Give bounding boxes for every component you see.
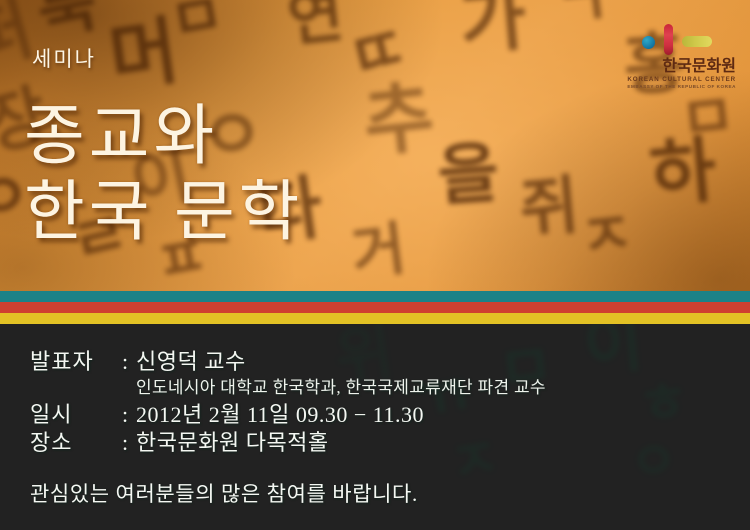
event-detail-colon: : — [122, 429, 136, 457]
calligraphy-glyph: ㅈ — [577, 203, 636, 266]
event-detail-row: 장소:한국문화원 다목적홀 — [30, 429, 546, 457]
event-detail-value: 신영덕 교수 — [136, 348, 246, 376]
calligraphy-glyph: 이 — [581, 324, 645, 380]
logo-yellow-dash-icon — [682, 36, 712, 47]
calligraphy-glyph: 을 — [436, 140, 501, 210]
closing-message: 관심있는 여러분들의 많은 참여를 바랍니다. — [30, 478, 418, 508]
event-detail-value: 2012년 2월 11일 09.30 − 11.30 — [136, 401, 424, 429]
calligraphy-glyph: ㅇ — [627, 434, 680, 491]
logo-red-bar-icon — [664, 24, 673, 55]
event-poster: 퍼북머ㅁ연ㄸ가ㄱ홍ㅁ장ㅇ이추을하ㅇ다ㄹ쥐ㅈㅍ거 세미나 종교와 한국 문학 한국… — [0, 0, 750, 530]
event-detail-row: 일시:2012년 2월 11일 09.30 − 11.30 — [30, 401, 546, 429]
event-detail-label: 장소 — [30, 429, 122, 457]
calligraphy-glyph: ㅁ — [165, 0, 228, 50]
logo-blue-dot-icon — [642, 36, 655, 49]
calligraphy-glyph: ㄱ — [553, 0, 613, 39]
calligraphy-glyph: ㅎ — [635, 373, 693, 435]
event-detail-label: 일시 — [30, 401, 122, 429]
event-details-block: 발표자:신영덕 교수인도네시아 대학교 한국학과, 한국국제교류재단 파견 교수… — [30, 348, 546, 457]
event-detail-colon: : — [122, 348, 136, 376]
calligraphy-glyph: 연 — [285, 0, 346, 51]
logo-name-korean: 한국문화원 — [626, 58, 736, 75]
logo-mark-icon — [642, 24, 728, 56]
logo-subtitle-english: EMBASSY OF THE REPUBLIC OF KOREA — [626, 84, 736, 89]
divider-stripe-red — [0, 302, 750, 313]
calligraphy-glyph: 가 — [457, 0, 529, 59]
divider-stripe-teal — [0, 291, 750, 302]
divider-stripe-yellow — [0, 313, 750, 324]
event-detail-label: 발표자 — [30, 348, 122, 376]
calligraphy-glyph: 하 — [647, 133, 719, 211]
calligraphy-glyph: 북 — [32, 0, 103, 45]
logo-name-english: KOREAN CULTURAL CENTER — [626, 76, 736, 83]
event-detail-row: 발표자:신영덕 교수 — [30, 348, 546, 376]
korean-cultural-center-logo: 한국문화원 KOREAN CULTURAL CENTER EMBASSY OF … — [626, 24, 736, 89]
event-detail-colon: : — [122, 401, 136, 429]
poster-title-line-2: 한국 문학 — [24, 158, 303, 254]
poster-kicker: 세미나 — [32, 43, 96, 73]
calligraphy-glyph: 추 — [360, 79, 437, 162]
event-detail-value: 한국문화원 다목적홀 — [136, 429, 329, 457]
event-detail-subtext: 인도네시아 대학교 한국학과, 한국국제교류재단 파견 교수 — [136, 376, 546, 401]
calligraphy-glyph: 쥐 — [517, 174, 581, 243]
calligraphy-glyph: 거 — [349, 219, 409, 283]
